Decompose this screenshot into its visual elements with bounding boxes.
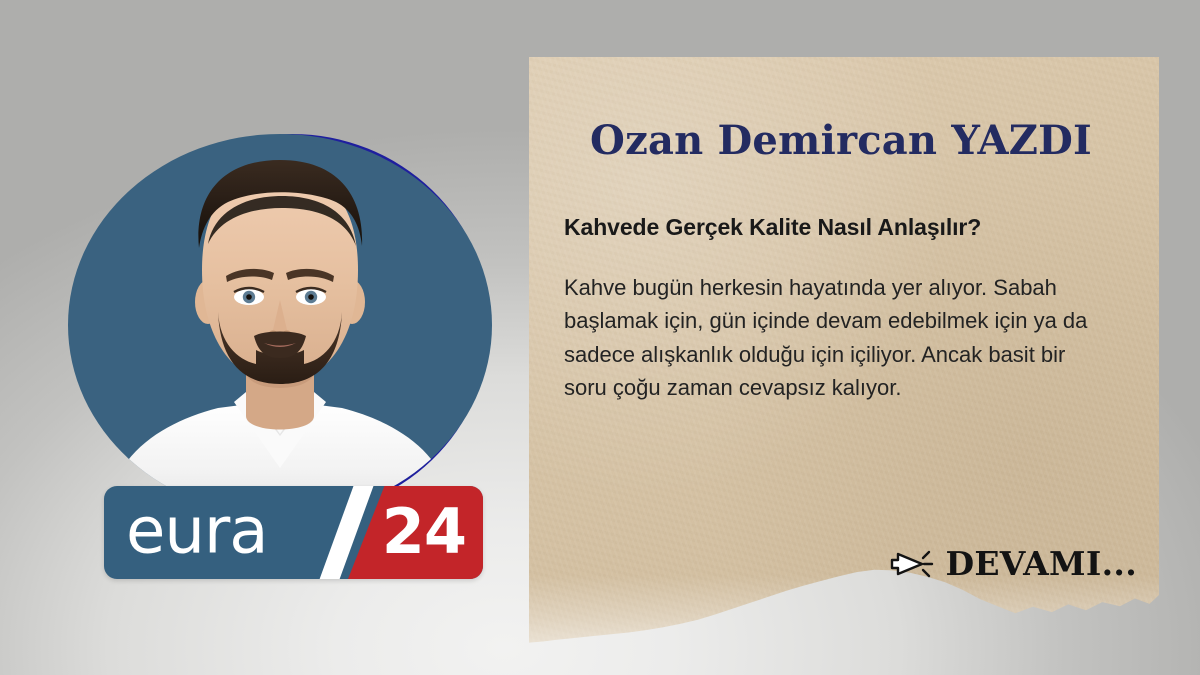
article-card: Ozan Demircan YAZDI Kahvede Gerçek Kalit… [529,57,1159,645]
read-more-label: DEVAMI... [945,544,1137,583]
avatar [68,134,492,516]
article-headline: Kahvede Gerçek Kalite Nasıl Anlaşılır? [564,214,1119,241]
poster-canvas: eura 24 Ozan Demircan YAZDI Kahvede Gerç… [0,0,1200,675]
read-more-link[interactable]: DEVAMI... [889,544,1137,583]
logo-word-24: 24 [382,500,466,562]
logo-word-eura: eura [126,499,267,563]
author-portrait-photo [68,134,492,516]
arrow-cursor-icon [889,547,935,581]
portrait-block [60,128,508,520]
author-byline: Ozan Demircan YAZDI [563,117,1119,164]
eura24-logo[interactable]: eura 24 [104,486,483,579]
article-body-text: Kahve bugün herkesin hayatında yer alıyo… [564,271,1109,405]
